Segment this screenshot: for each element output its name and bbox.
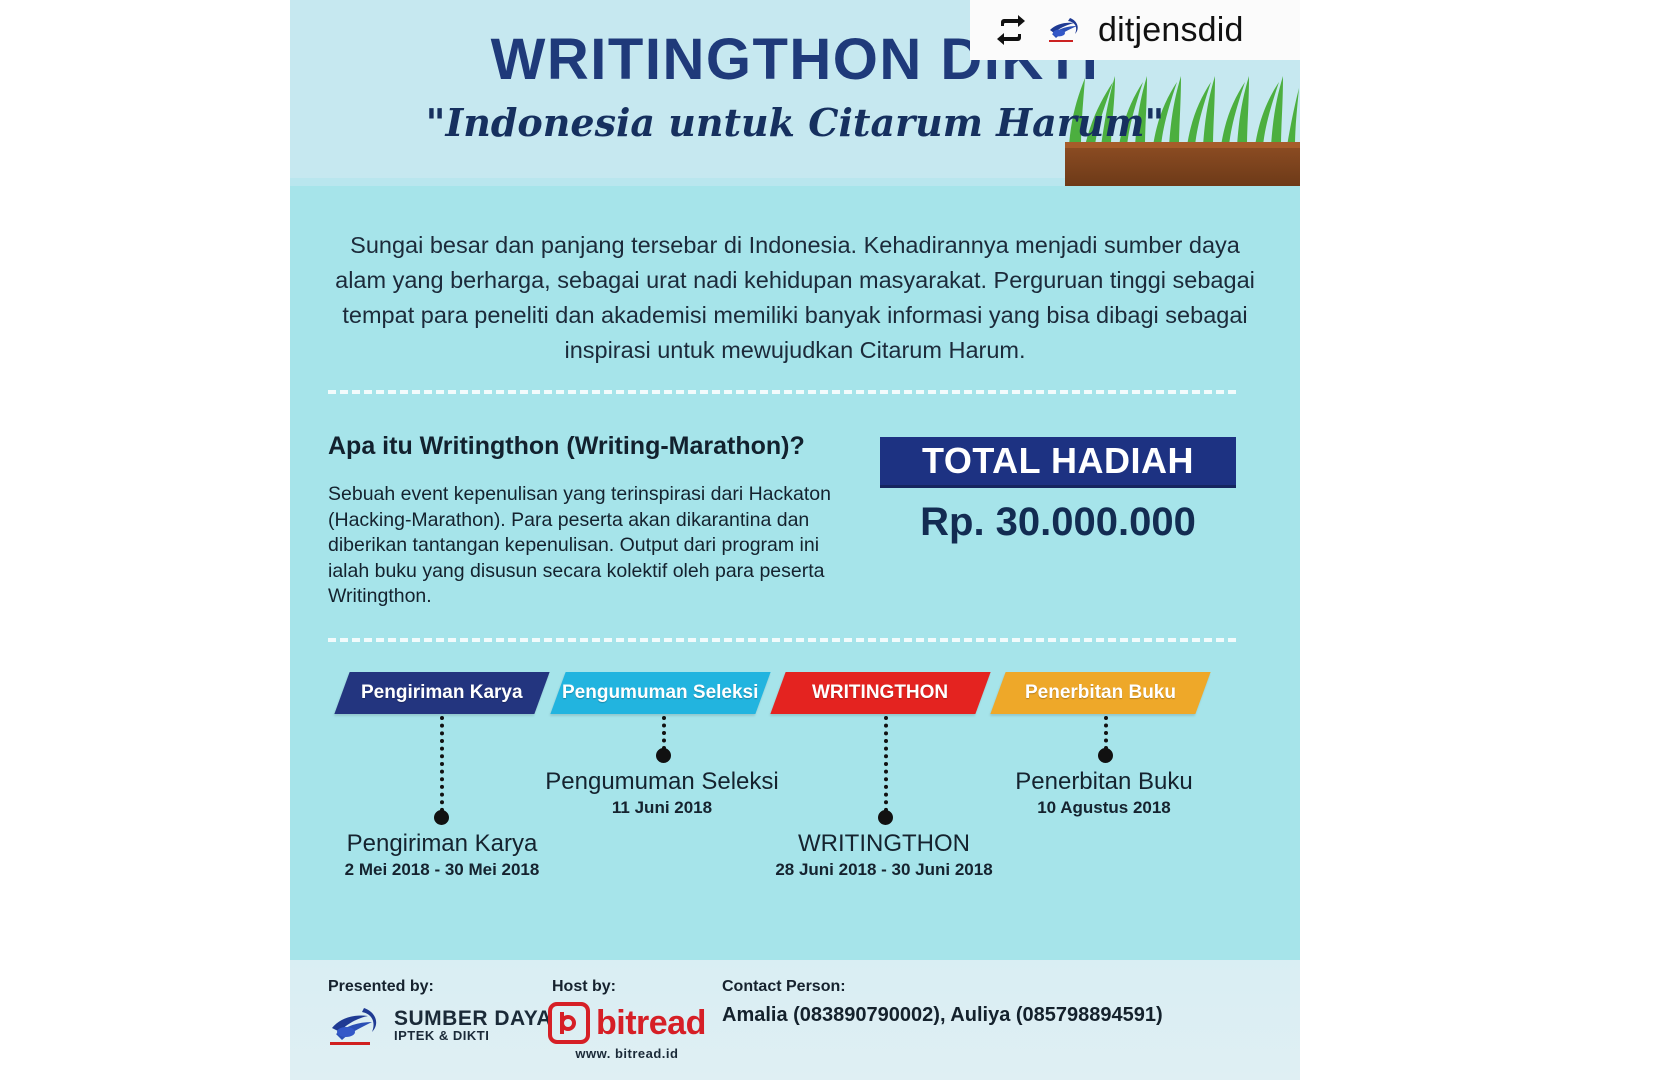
contact-person-value: Amalia (083890790002), Auliya (085798894… <box>722 1004 1163 1027</box>
timeline-ribbon-3: WRITINGTHON <box>770 672 990 714</box>
timeline-caption-1: Pengiriman Karya 2 Mei 2018 - 30 Mei 201… <box>312 830 572 882</box>
about-body: Sebuah event kepenulisan yang terinspira… <box>328 482 858 610</box>
total-prize-amount: Rp. 30.000.000 <box>880 500 1236 545</box>
poster: WRITINGTHON DIKTI "Indonesia untuk Citar… <box>290 0 1300 1080</box>
about-heading: Apa itu Writingthon (Writing-Marathon)? <box>328 432 888 461</box>
timeline-dot-3 <box>878 810 893 825</box>
host-by-label: Host by: <box>552 978 616 996</box>
repost-username: ditjensdid <box>1098 11 1244 50</box>
timeline-ribbon-3-label: WRITINGTHON <box>812 682 948 704</box>
timeline-caption-1-name: Pengiriman Karya <box>312 830 572 858</box>
footer: Presented by: Host by: Contact Person: A… <box>290 960 1300 1080</box>
timeline-caption-3-name: WRITINGTHON <box>754 830 1014 858</box>
timeline-caption-4: Penerbitan Buku 10 Agustus 2018 <box>974 768 1234 820</box>
sumber-daya-wordmark: SUMBER DAYA IPTEK & DIKTI <box>394 1008 552 1042</box>
timeline-caption-4-name: Penerbitan Buku <box>974 768 1234 796</box>
timeline-ribbon-4: Penerbitan Buku <box>990 672 1210 714</box>
repost-badge: ditjensdid <box>970 0 1300 60</box>
repost-icon <box>994 13 1028 47</box>
timeline-ribbon-1-label: Pengiriman Karya <box>361 682 523 704</box>
bitread-url: www. bitread.id <box>548 1046 706 1061</box>
ristekdikti-logo-icon <box>324 1002 384 1048</box>
timeline-caption-4-date: 10 Agustus 2018 <box>974 796 1234 820</box>
screenshot-root: WRITINGTHON DIKTI "Indonesia untuk Citar… <box>0 0 1671 1080</box>
divider-top <box>328 390 1236 394</box>
timeline-ribbon-2: Pengumuman Seleksi <box>550 672 770 714</box>
timeline-caption-3-date: 28 Juni 2018 - 30 Juni 2018 <box>754 858 1014 882</box>
intro-paragraph: Sungai besar dan panjang tersebar di Ind… <box>326 228 1264 368</box>
soil <box>1065 148 1300 186</box>
timeline-dot-1 <box>434 810 449 825</box>
bitread-logo: bitread www. bitread.id <box>548 1002 706 1061</box>
timeline-ribbon-2-label: Pengumuman Seleksi <box>562 682 758 704</box>
timeline-stem-2 <box>662 716 666 750</box>
total-prize-label: TOTAL HADIAH <box>922 440 1194 482</box>
timeline-stem-1 <box>440 716 444 812</box>
ditjen-logo-icon <box>1046 15 1080 45</box>
sumber-daya-line2: IPTEK & DIKTI <box>394 1029 552 1042</box>
timeline-ribbon-4-label: Penerbitan Buku <box>1025 682 1176 704</box>
timeline-caption-2-name: Pengumuman Seleksi <box>532 768 792 796</box>
timeline: Pengiriman Karya Pengumuman Seleksi WRIT… <box>290 672 1300 872</box>
sumber-daya-logo: SUMBER DAYA IPTEK & DIKTI <box>324 1002 552 1048</box>
presented-by-label: Presented by: <box>328 978 434 996</box>
timeline-caption-1-date: 2 Mei 2018 - 30 Mei 2018 <box>312 858 572 882</box>
timeline-ribbon-1: Pengiriman Karya <box>334 672 549 714</box>
page-subtitle: "Indonesia untuk Citarum Harum" <box>290 100 1300 145</box>
timeline-caption-2: Pengumuman Seleksi 11 Juni 2018 <box>532 768 792 820</box>
timeline-caption-3: WRITINGTHON 28 Juni 2018 - 30 Juni 2018 <box>754 830 1014 882</box>
timeline-dot-2 <box>656 748 671 763</box>
total-prize-badge: TOTAL HADIAH <box>880 437 1236 485</box>
bitread-row: bitread <box>548 1002 706 1044</box>
bitread-mark-icon <box>548 1002 590 1044</box>
contact-person-label: Contact Person: <box>722 978 846 996</box>
sumber-daya-line1: SUMBER DAYA <box>394 1008 552 1029</box>
timeline-caption-2-date: 11 Juni 2018 <box>532 796 792 820</box>
divider-bottom <box>328 638 1236 642</box>
timeline-ribbons: Pengiriman Karya Pengumuman Seleksi WRIT… <box>290 672 1300 716</box>
timeline-stem-4 <box>1104 716 1108 750</box>
bitread-wordmark: bitread <box>596 1004 706 1043</box>
timeline-stem-3 <box>884 716 888 812</box>
timeline-dot-4 <box>1098 748 1113 763</box>
